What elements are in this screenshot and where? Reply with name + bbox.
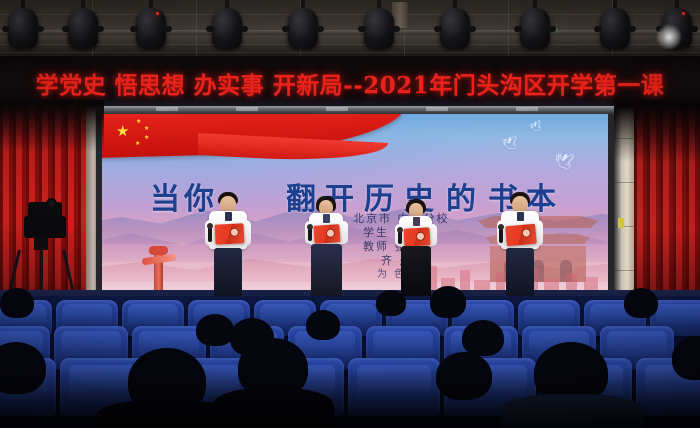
spotlight-glare: [656, 24, 682, 50]
audience-head: [672, 336, 700, 380]
chinese-national-flag-icon: ★ ★ ★ ★ ★: [102, 114, 402, 162]
red-folder: [313, 224, 340, 244]
screenshot-root: 学党史 悟思想 办实事 开新局--2021年门头沟区开学第一课 ★ ★ ★: [0, 0, 700, 428]
audience-head: [376, 290, 406, 316]
flag-star: ★: [116, 124, 129, 139]
performer-2: [298, 196, 356, 300]
seat: [348, 358, 440, 416]
flag-star: ★: [135, 141, 140, 147]
audience-head: [0, 288, 34, 318]
red-folder: [404, 227, 431, 246]
audience-head: [306, 310, 340, 340]
audience-head: [430, 286, 466, 318]
audience-area: [0, 296, 700, 428]
dove-icon: 🕊: [501, 134, 520, 153]
audience-head: [436, 352, 492, 400]
huabiao-pillar-graphic: [142, 246, 176, 292]
audience-head: [462, 320, 504, 356]
stage-spotlight: [364, 0, 394, 52]
ceiling-conduit: [392, 2, 408, 28]
event-banner: 学党史 悟思想 办实事 开新局--2021年门头沟区开学第一课: [0, 56, 700, 110]
headline-char: 当: [150, 174, 180, 218]
stage-spotlight: [520, 0, 550, 52]
audience-head: [196, 314, 234, 346]
microphone-icon: [398, 230, 402, 244]
audience-shoulders: [500, 394, 644, 428]
stage-spotlight: [440, 0, 470, 52]
screen-frame-top: [96, 106, 614, 114]
stage-spotlight: [600, 0, 630, 52]
microphone-icon: [308, 227, 312, 241]
stage-spotlight: [68, 0, 98, 52]
flag-star: ★: [136, 119, 141, 125]
flag-star: ★: [144, 126, 149, 132]
dove-icon: 🕊: [553, 151, 575, 173]
performer-3: [389, 199, 445, 300]
microphone-icon: [208, 226, 212, 242]
shadow-overlay-left: [0, 100, 104, 152]
audience-head: [624, 288, 658, 318]
stage-spotlight: [136, 0, 166, 52]
shadow-overlay-right: [614, 100, 700, 162]
red-folder: [505, 224, 537, 247]
lighting-truss-secondary: [0, 44, 700, 47]
performer-4: [490, 192, 552, 300]
flag-star: ★: [144, 135, 149, 141]
ceiling: [0, 0, 700, 58]
stage-spotlight: [212, 0, 242, 52]
microphone-icon: [499, 227, 503, 243]
performer-1: [196, 192, 260, 300]
stage-spotlight: [288, 0, 318, 52]
audience-shoulders: [212, 388, 334, 428]
red-folder: [214, 223, 244, 244]
dove-icon: 🕊: [529, 120, 545, 135]
wall-marker: [618, 218, 624, 228]
stage-spotlight: [8, 0, 38, 52]
page-title: 学党史 悟思想 办实事 开新局--2021年门头沟区开学第一课: [0, 66, 700, 100]
